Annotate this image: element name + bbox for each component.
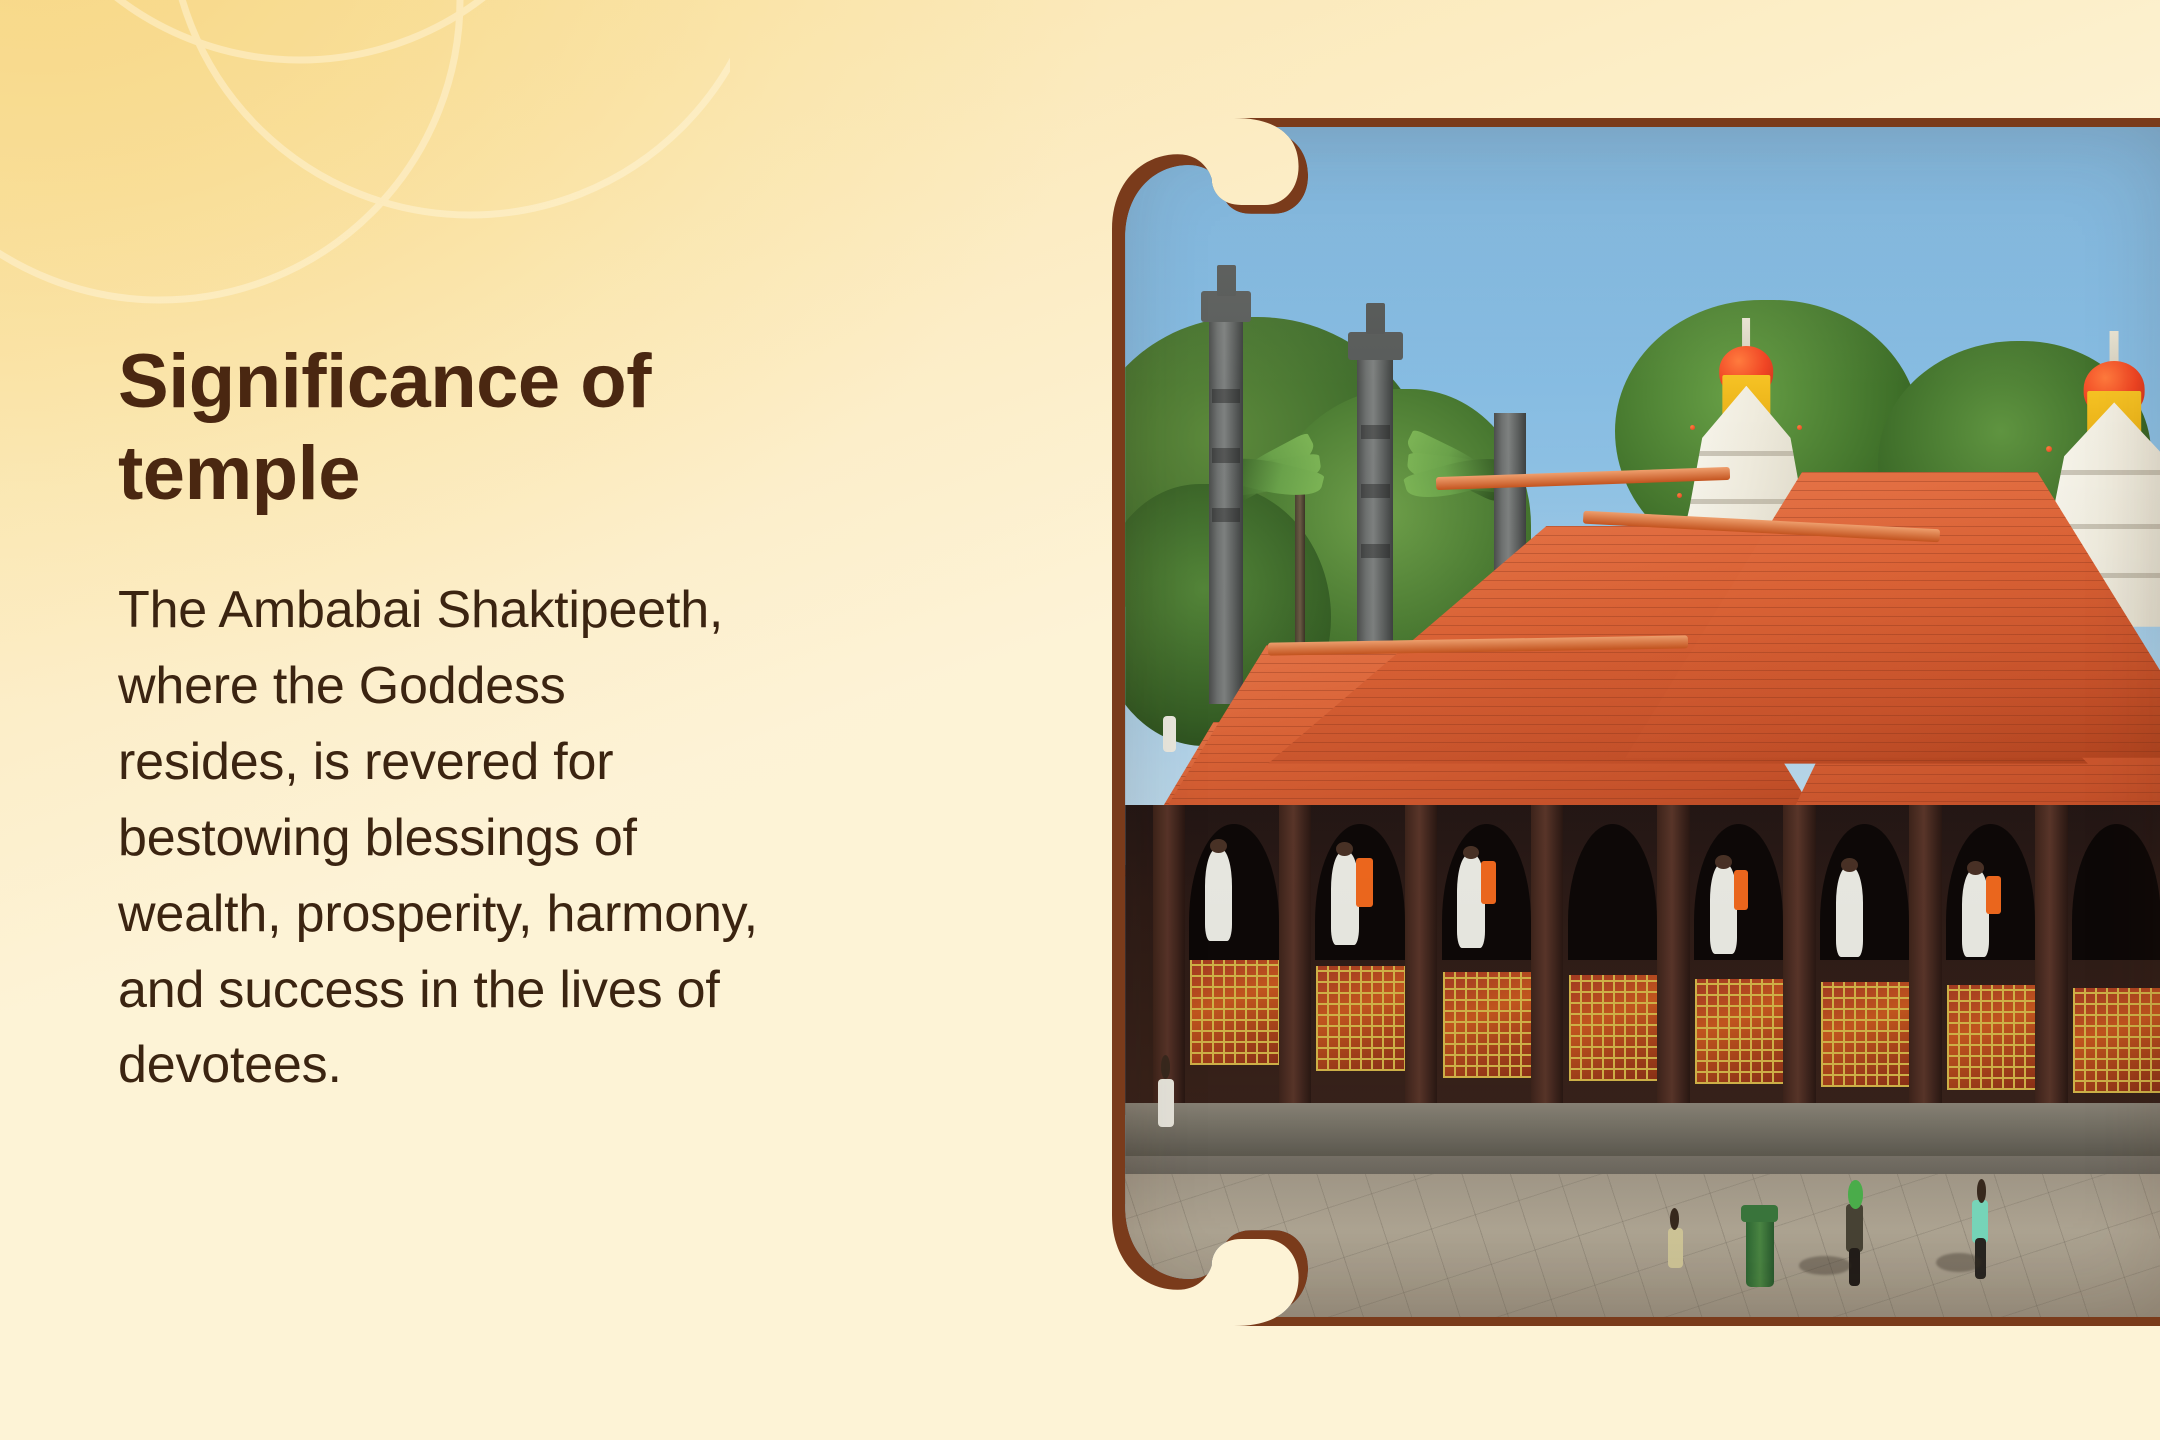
devotee-head <box>1715 855 1732 869</box>
photo-frame <box>1112 118 2160 1326</box>
pedestrian-legs <box>1849 1248 1860 1286</box>
body-paragraph: The Ambabai Shaktipeeth, where the Godde… <box>118 573 758 1104</box>
lattice-grille <box>1190 960 1278 1065</box>
lattice-grille <box>1947 985 2035 1090</box>
stone-carving-line <box>1212 389 1239 403</box>
pedestrian <box>1163 716 1176 752</box>
pillar <box>1783 805 1816 1114</box>
devotee-orange-cloth <box>1481 861 1496 904</box>
devotee <box>1205 849 1232 942</box>
devotee-head <box>1841 858 1858 872</box>
pedestrian <box>1972 1200 1988 1243</box>
pedestrian <box>1846 1204 1863 1252</box>
pillar <box>1657 805 1690 1114</box>
lattice-grille <box>1569 975 1657 1080</box>
archway <box>1189 824 1278 960</box>
pillar <box>1279 805 1312 1114</box>
pedestrian <box>1158 1079 1174 1127</box>
pillar <box>2035 805 2068 1114</box>
devotee <box>1836 867 1863 957</box>
devotee <box>1331 852 1358 945</box>
stone-carving-line <box>1361 544 1390 558</box>
pedestrian <box>1668 1228 1684 1268</box>
pedestrian-shadow <box>1936 1253 1982 1272</box>
pedestrian-head <box>1670 1208 1679 1231</box>
archway <box>2072 824 2160 960</box>
archway <box>1568 824 1657 960</box>
lattice-grille <box>2073 988 2160 1093</box>
lattice-grille <box>1316 966 1404 1071</box>
pillar <box>1531 805 1564 1114</box>
stone-carving-line <box>1212 508 1239 522</box>
lattice-grille <box>1821 982 1909 1087</box>
text-column: Significance of temple The Ambabai Shakt… <box>118 0 898 1440</box>
pillar <box>1909 805 1942 1114</box>
temple-photo <box>1121 127 2160 1317</box>
devotee-head <box>1967 861 1984 875</box>
mandapa-colonnade <box>1121 805 2160 1114</box>
devotee-orange-cloth <box>1734 870 1749 910</box>
devotee-orange-cloth <box>1986 876 2001 913</box>
stone-carving-line <box>1212 448 1239 462</box>
dustbin <box>1746 1216 1773 1287</box>
stone-carving-line <box>1361 484 1390 498</box>
dustbin-lid <box>1741 1205 1778 1222</box>
devotee <box>1710 864 1737 954</box>
pedestrian-head <box>1977 1179 1986 1203</box>
stone-tower-finial <box>1366 303 1385 334</box>
devotee-orange-cloth <box>1356 858 1373 908</box>
stone-tower-cap <box>1348 332 1403 361</box>
lattice-grille <box>1443 972 1531 1077</box>
archway <box>1820 824 1909 960</box>
pedestrian-headload <box>1848 1180 1863 1209</box>
lattice-grille <box>1695 979 1783 1084</box>
stone-tower-finial <box>1217 265 1236 296</box>
stone-carving-line <box>1361 425 1390 439</box>
page-title: Significance of temple <box>118 336 758 521</box>
pillar <box>1405 805 1438 1114</box>
